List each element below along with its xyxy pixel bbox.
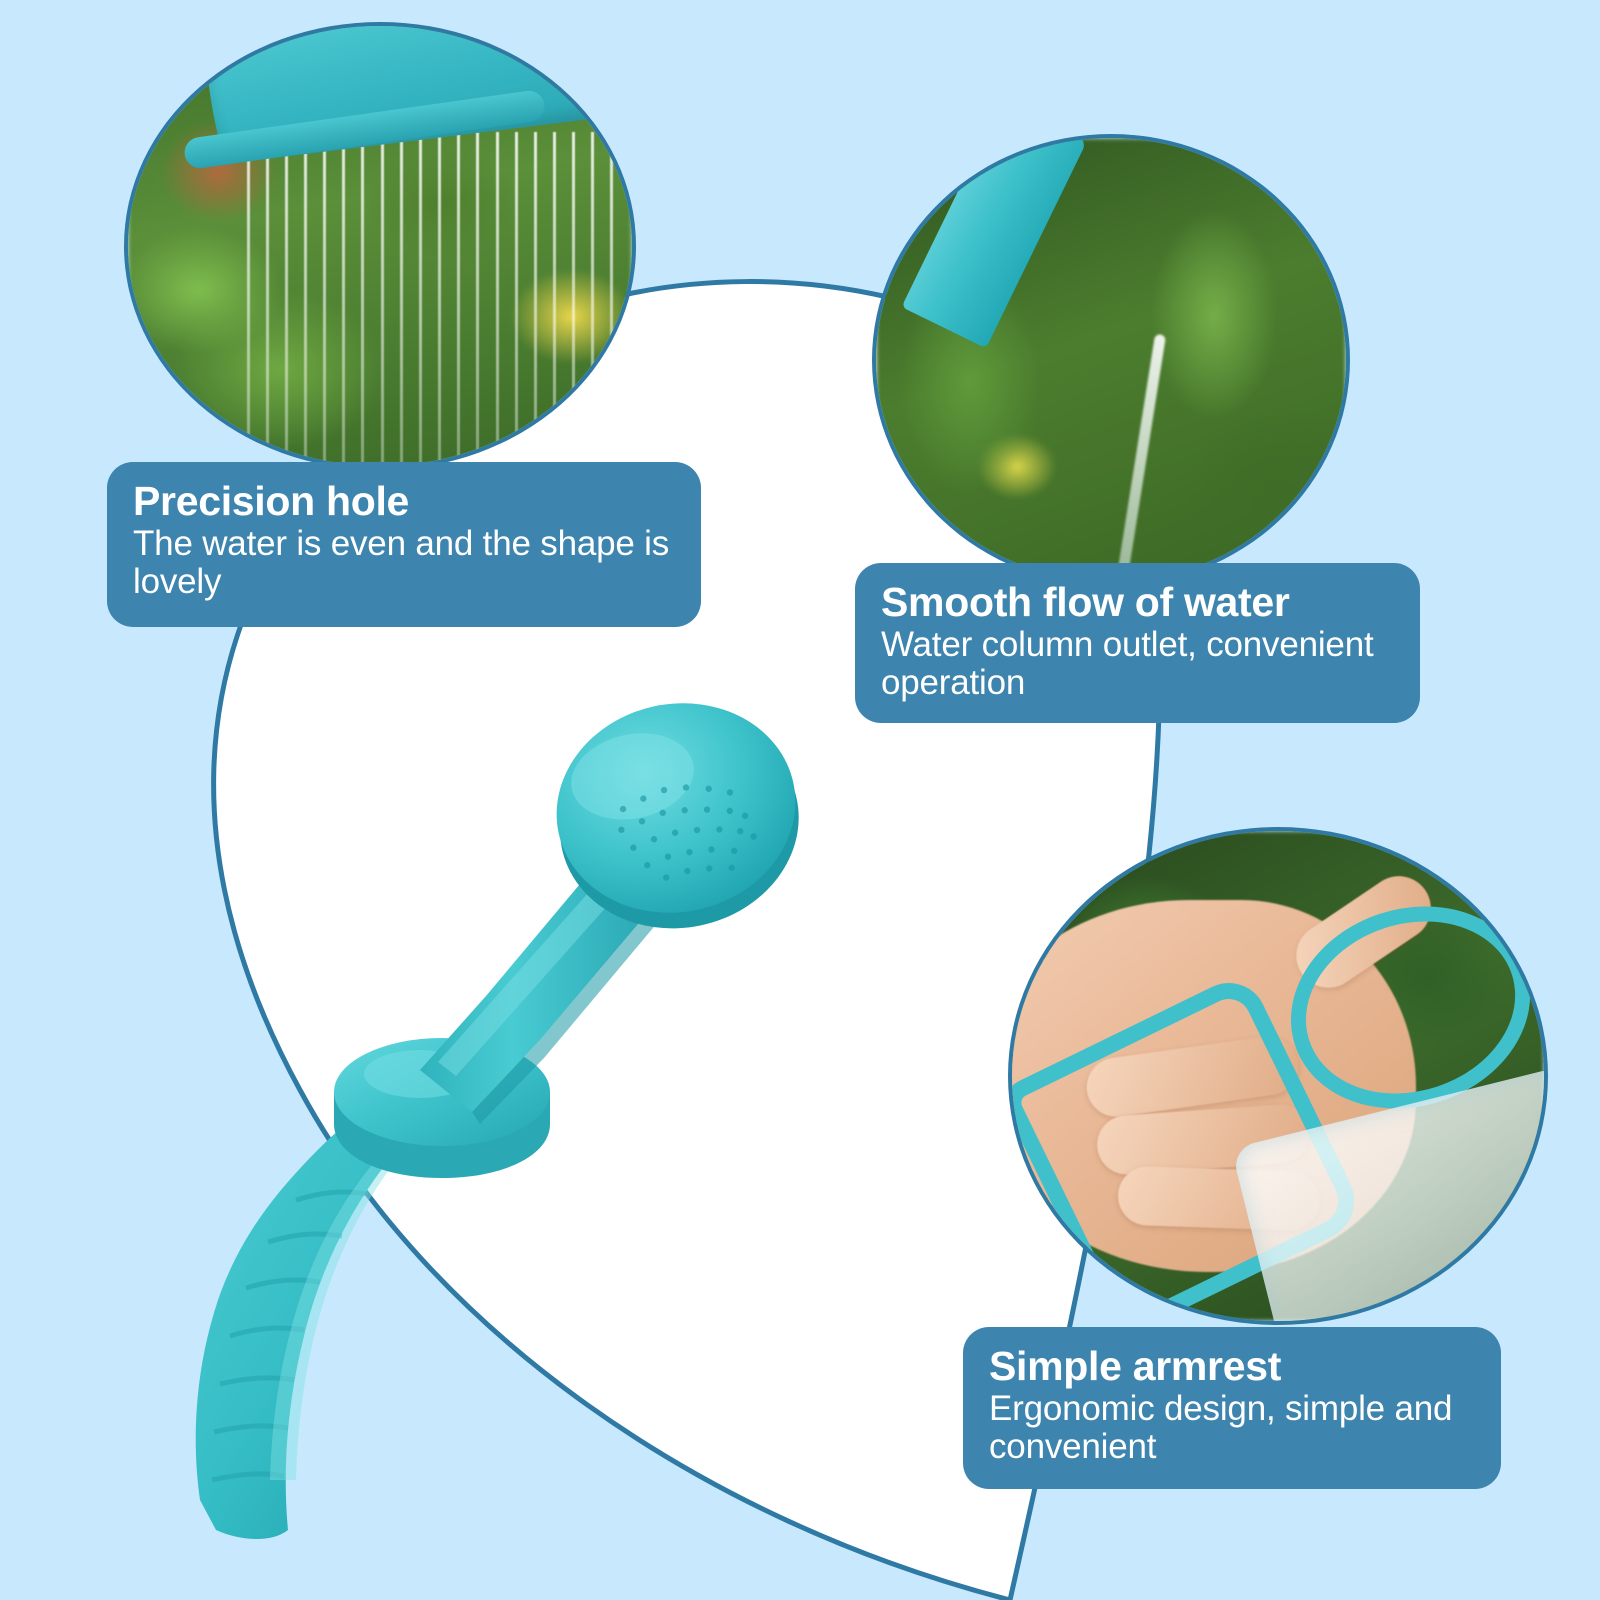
callout-title-simple-armrest: Simple armrest [989, 1345, 1475, 1388]
callout-description-precision-hole: The water is even and the shape is lovel… [133, 525, 675, 599]
callout-precision-hole: Precision hole The water is even and the… [107, 462, 701, 627]
callout-simple-armrest: Simple armrest Ergonomic design, simple … [963, 1327, 1501, 1489]
feature-photo-precision-hole [124, 22, 636, 470]
product-hero-image [120, 600, 880, 1560]
infographic-canvas: Precision hole The water is even and the… [0, 0, 1600, 1600]
callout-description-smooth-flow: Water column outlet, convenient operatio… [881, 626, 1394, 700]
callout-title-precision-hole: Precision hole [133, 480, 675, 523]
callout-smooth-flow: Smooth flow of water Water column outlet… [855, 563, 1420, 723]
feature-photo-smooth-flow [872, 134, 1350, 586]
feature-photo-simple-armrest [1008, 827, 1548, 1325]
callout-title-smooth-flow: Smooth flow of water [881, 581, 1394, 624]
callout-description-simple-armrest: Ergonomic design, simple and convenient [989, 1390, 1475, 1464]
